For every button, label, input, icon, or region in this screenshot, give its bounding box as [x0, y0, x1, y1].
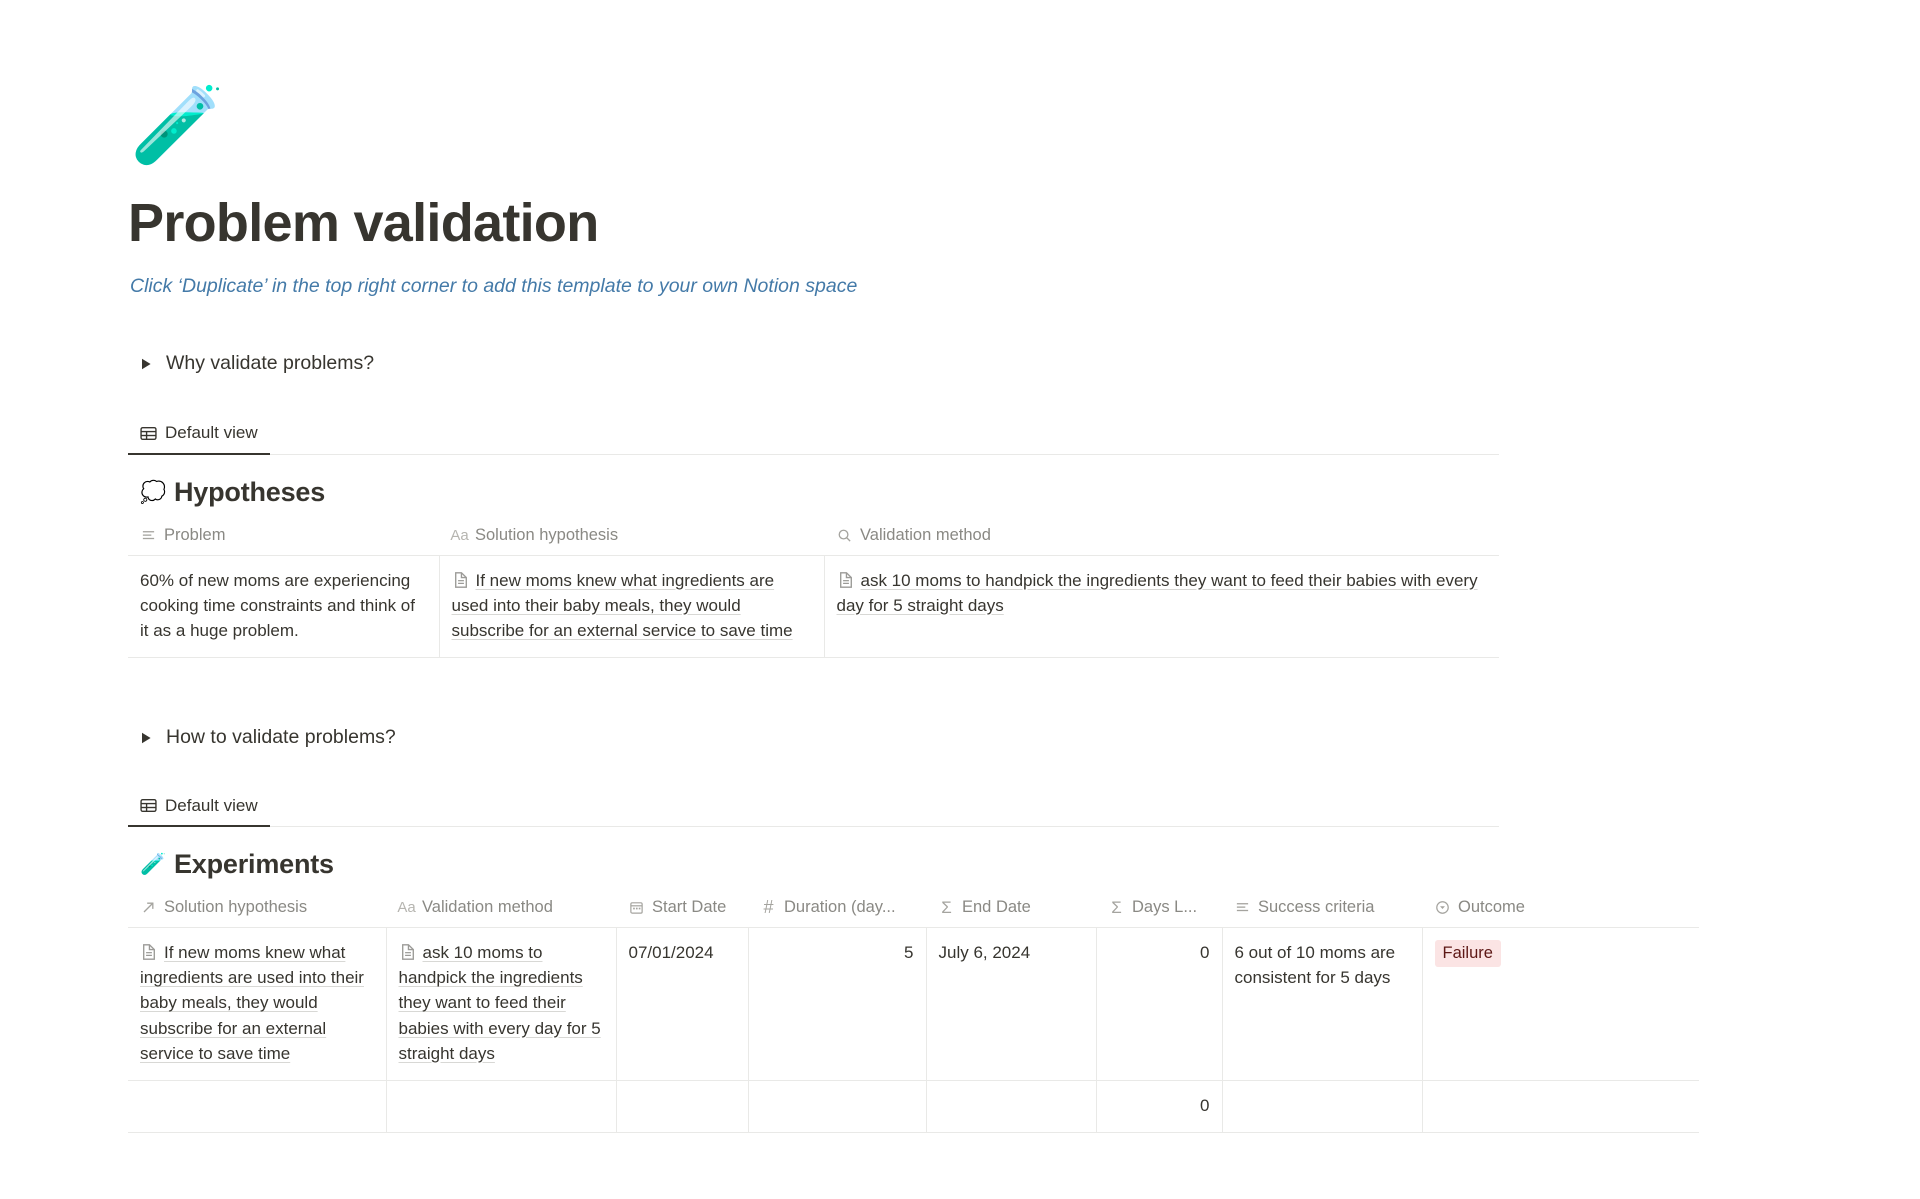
column-header-end-date[interactable]: Σ End Date	[926, 892, 1096, 928]
cell-validation-method-link[interactable]: ask 10 moms to handpick the ingredients …	[399, 943, 601, 1063]
search-icon	[836, 527, 853, 544]
column-header-days-left[interactable]: Σ Days L...	[1096, 892, 1222, 928]
toggle-why-validate-problems[interactable]: Why validate problems?	[138, 344, 1920, 384]
database-title-text: Experiments	[174, 849, 334, 880]
database-title-text: Hypotheses	[174, 477, 325, 508]
status-badge: Failure	[1435, 940, 1501, 967]
cell-end-date[interactable]: July 6, 2024	[926, 928, 1096, 1081]
experiments-view-tabs: Default view	[128, 792, 1499, 827]
page-document-icon	[140, 943, 158, 961]
cell-end-date[interactable]	[926, 1080, 1096, 1132]
toggle-label: Why validate problems?	[166, 350, 374, 377]
cell-success-criteria[interactable]: 6 out of 10 moms are consistent for 5 da…	[1222, 928, 1422, 1081]
page-subtitle: Click ‘Duplicate’ in the top right corne…	[130, 272, 1920, 301]
cell-start-date[interactable]: 07/01/2024	[616, 928, 748, 1081]
toggle-how-to-validate-problems[interactable]: How to validate problems?	[138, 718, 1920, 758]
text-lines-icon	[140, 527, 157, 544]
page-document-icon	[399, 943, 417, 961]
column-header-label: Validation method	[860, 526, 991, 545]
column-header-label: Outcome	[1458, 898, 1525, 917]
cell-validation-method[interactable]	[386, 1080, 616, 1132]
tab-default-view-hypotheses[interactable]: Default view	[128, 422, 270, 455]
experiments-table: Solution hypothesis Aa Validation method	[128, 892, 1699, 1133]
column-header-duration[interactable]: # Duration (day...	[748, 892, 926, 928]
column-header-label: Days L...	[1132, 898, 1197, 917]
table-header-row: Problem Aa Solution hypothesis	[128, 520, 1499, 556]
text-lines-icon	[1234, 899, 1251, 916]
column-header-label: Solution hypothesis	[475, 526, 618, 545]
cell-solution-hypothesis[interactable]	[128, 1080, 386, 1132]
column-header-label: Problem	[164, 526, 225, 545]
column-header-label: Start Date	[652, 898, 726, 917]
column-header-start-date[interactable]: Start Date	[616, 892, 748, 928]
chevron-right-icon[interactable]	[138, 356, 154, 372]
cell-validation-method[interactable]: ask 10 moms to handpick the ingredients …	[824, 555, 1499, 657]
cell-problem[interactable]: 60% of new moms are experiencing cooking…	[128, 555, 439, 657]
cell-days-left-summary[interactable]: 0	[1096, 1080, 1222, 1132]
calendar-icon	[628, 899, 645, 916]
column-header-validation-method[interactable]: Aa Validation method	[386, 892, 616, 928]
experiments-database-title: 🧪 Experiments	[140, 849, 1920, 880]
cell-success-criteria[interactable]	[1222, 1080, 1422, 1132]
table-row[interactable]: If new moms knew what ingredients are us…	[128, 928, 1699, 1081]
thought-balloon-icon: 💭	[140, 482, 164, 503]
column-header-label: Duration (day...	[784, 898, 896, 917]
cell-solution-hypothesis-link[interactable]: If new moms knew what ingredients are us…	[140, 943, 364, 1063]
cell-outcome[interactable]: Failure	[1422, 928, 1699, 1081]
cell-duration-days[interactable]: 5	[748, 928, 926, 1081]
column-header-outcome[interactable]: Outcome	[1422, 892, 1699, 928]
page-icon-test-tube-icon[interactable]: 🧪	[130, 88, 1920, 184]
page-root: 🧪 Problem validation Click ‘Duplicate’ i…	[0, 0, 1920, 1133]
page-document-icon	[837, 571, 855, 589]
hypotheses-database-title: 💭 Hypotheses	[140, 477, 1920, 508]
table-grid-icon	[140, 425, 157, 442]
cell-solution-hypothesis-link[interactable]: If new moms knew what ingredients are us…	[452, 571, 793, 640]
select-chevron-icon	[1434, 899, 1451, 916]
cell-solution-hypothesis[interactable]: If new moms knew what ingredients are us…	[439, 555, 824, 657]
aa-title-icon: Aa	[451, 527, 468, 544]
aa-title-icon: Aa	[398, 899, 415, 916]
column-header-label: End Date	[962, 898, 1031, 917]
cell-validation-method[interactable]: ask 10 moms to handpick the ingredients …	[386, 928, 616, 1081]
page-document-icon	[452, 571, 470, 589]
column-header-success-criteria[interactable]: Success criteria	[1222, 892, 1422, 928]
cell-start-date[interactable]	[616, 1080, 748, 1132]
relation-arrow-icon	[140, 899, 157, 916]
chevron-right-icon[interactable]	[138, 730, 154, 746]
number-hash-icon: #	[760, 899, 777, 916]
formula-sigma-icon: Σ	[1108, 899, 1125, 916]
cell-duration-days[interactable]	[748, 1080, 926, 1132]
column-header-problem[interactable]: Problem	[128, 520, 439, 556]
hypotheses-table: Problem Aa Solution hypothesis	[128, 520, 1499, 658]
hypotheses-view-tabs: Default view	[128, 420, 1499, 455]
table-header-row: Solution hypothesis Aa Validation method	[128, 892, 1699, 928]
column-header-label: Solution hypothesis	[164, 898, 307, 917]
cell-days-left[interactable]: 0	[1096, 928, 1222, 1081]
cell-validation-method-link[interactable]: ask 10 moms to handpick the ingredients …	[837, 571, 1478, 615]
column-header-label: Validation method	[422, 898, 553, 917]
test-tube-icon: 🧪	[140, 854, 164, 875]
table-grid-icon	[140, 797, 157, 814]
cell-solution-hypothesis[interactable]: If new moms knew what ingredients are us…	[128, 928, 386, 1081]
column-header-solution-hypothesis[interactable]: Aa Solution hypothesis	[439, 520, 824, 556]
tab-default-view-experiments[interactable]: Default view	[128, 794, 270, 827]
page-title: Problem validation	[128, 194, 1920, 252]
tab-label: Default view	[165, 796, 258, 816]
column-header-validation-method[interactable]: Validation method	[824, 520, 1499, 556]
formula-sigma-icon: Σ	[938, 899, 955, 916]
toggle-label: How to validate problems?	[166, 724, 396, 751]
tab-label: Default view	[165, 423, 258, 443]
table-row[interactable]: 60% of new moms are experiencing cooking…	[128, 555, 1499, 657]
cell-outcome[interactable]	[1422, 1080, 1699, 1132]
table-row-empty[interactable]: 0	[128, 1080, 1699, 1132]
column-header-label: Success criteria	[1258, 898, 1374, 917]
column-header-solution-hypothesis[interactable]: Solution hypothesis	[128, 892, 386, 928]
